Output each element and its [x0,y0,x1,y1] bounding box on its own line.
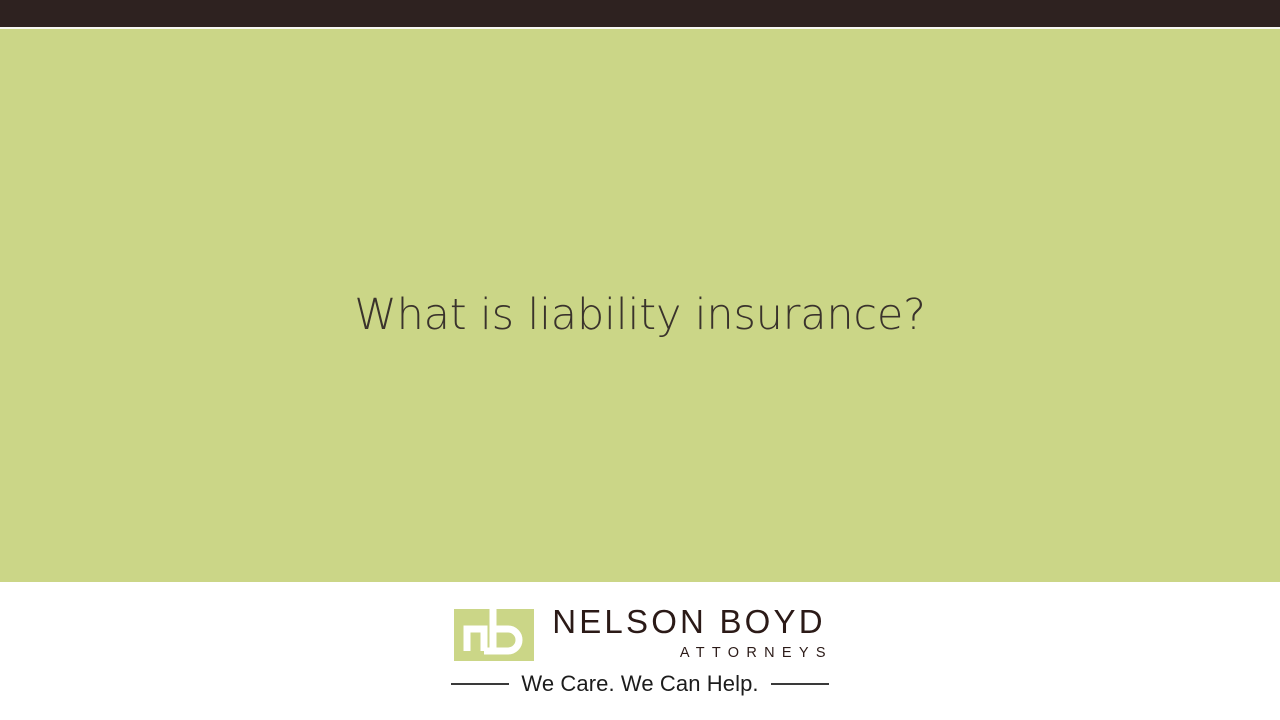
tagline-rule-right [771,683,829,685]
brand-subtitle: ATTORNEYS [680,644,833,663]
presentation-slide: What is liability insurance? NELSON BOYD [0,0,1280,720]
brand-lockup: NELSON BOYD ATTORNEYS [454,603,826,662]
slide-content-panel: What is liability insurance? [0,29,1280,582]
brand-name: NELSON BOYD [552,605,826,640]
brand-tagline-row: We Care. We Can Help. [451,671,828,697]
brand-wordmark: NELSON BOYD ATTORNEYS [552,603,826,662]
slide-footer: NELSON BOYD ATTORNEYS We Care. We Can He… [0,582,1280,720]
tagline-rule-left [451,683,509,685]
nb-monogram-icon [454,603,540,661]
brand-tagline: We Care. We Can Help. [521,671,758,697]
top-bar [0,0,1280,27]
slide-title: What is liability insurance? [354,292,925,339]
